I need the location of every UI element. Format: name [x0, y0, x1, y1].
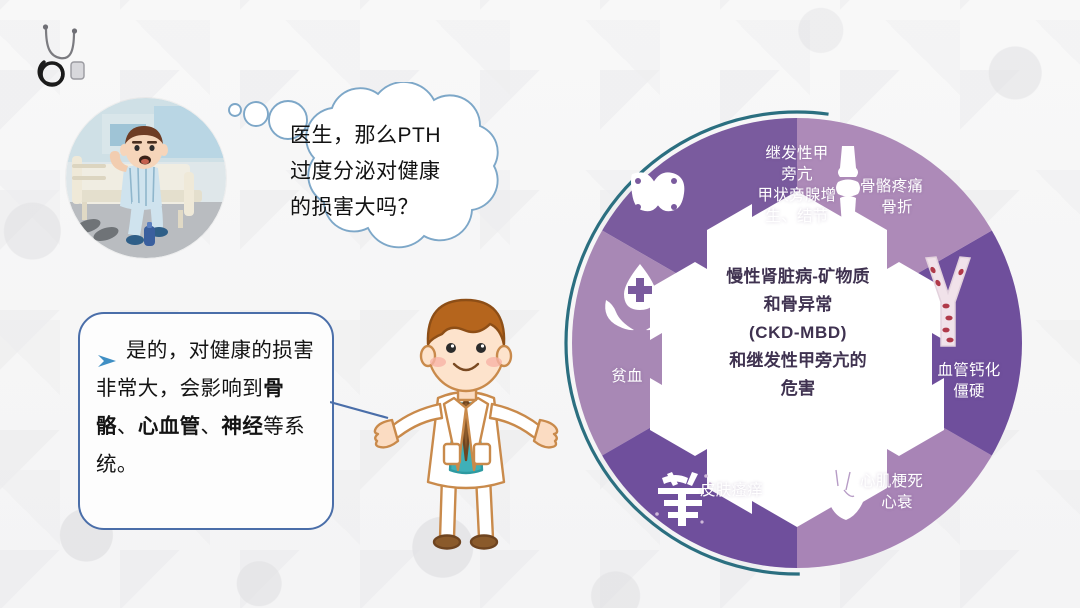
ckd-mbd-wheel-diagram: 继发性甲 旁亢 甲状旁腺增 生、结节 骨骼疼痛 骨折 血管钙化 僵硬 心肌梗死 …	[542, 88, 1052, 598]
center-line: 慢性肾脏病-矿物质	[685, 263, 911, 291]
blood-drop-in-hands-icon	[600, 260, 680, 338]
thought-bubble: 医生，那么PTH 过度分泌对健康 的损害大吗？	[228, 82, 558, 297]
wheel-label-myocardial-infarction: 心肌梗死 心衰	[860, 471, 980, 513]
wheel-label-vascular-calcification: 血管钙化 僵硬	[914, 360, 1024, 402]
thought-line-3: 的损害大吗？	[290, 190, 505, 226]
wheel-label-anemia: 贫血	[572, 366, 682, 387]
thought-line-1: 医生，那么PTH	[290, 118, 505, 154]
answer-run: 、	[201, 415, 222, 438]
label-line: 血管钙化	[914, 360, 1024, 381]
thought-bubble-text: 医生，那么PTH 过度分泌对健康 的损害大吗？	[290, 118, 505, 226]
cartoon-doctor-character	[368, 288, 564, 560]
center-line: 危害	[685, 375, 911, 403]
label-line: 骨骼疼痛	[860, 176, 980, 197]
label-line: 心衰	[860, 492, 934, 513]
wheel-center-title: 慢性肾脏病-矿物质 和骨异常 (CKD-MBD) 和继发性甲旁亢的 危害	[685, 263, 911, 403]
answer-box: 是的，对健康的损害非常大，会影响到骨骼、心血管、神经等系统。	[78, 312, 334, 530]
blood-vessel-icon	[920, 256, 976, 348]
wheel-label-hyperparathyroidism: 继发性甲 旁亢 甲状旁腺增 生、结节	[727, 143, 867, 227]
center-line: (CKD-MBD)	[685, 319, 911, 347]
label-line: 甲状旁腺增	[727, 185, 867, 206]
thought-line-2: 过度分泌对健康	[290, 154, 505, 190]
label-line: 僵硬	[914, 381, 1024, 402]
label-line: 生、结节	[727, 206, 867, 227]
answer-text: 是的，对健康的损害非常大，会影响到骨骼、心血管、神经等系统。	[96, 339, 314, 476]
patient-photo	[66, 98, 226, 258]
answer-run: 、	[117, 415, 138, 438]
center-line: 和继发性甲旁亢的	[685, 347, 911, 375]
stethoscope-icon	[30, 22, 94, 92]
wheel-label-skin-itch: 皮肤瘙痒	[700, 480, 820, 501]
label-line: 旁亢	[727, 164, 867, 185]
center-line: 和骨异常	[685, 291, 911, 319]
label-line: 骨折	[860, 197, 934, 218]
parathyroid-gland-icon	[620, 163, 692, 225]
label-line: 皮肤瘙痒	[700, 480, 820, 501]
label-line: 继发性甲	[727, 143, 867, 164]
answer-emphasis: 心血管	[138, 415, 201, 438]
wheel-label-bone-pain: 骨骼疼痛 骨折	[860, 176, 980, 218]
answer-emphasis: 神经	[221, 415, 263, 438]
label-line: 贫血	[572, 366, 682, 387]
label-line: 心肌梗死	[860, 471, 980, 492]
arrow-bullet-icon	[96, 344, 118, 360]
